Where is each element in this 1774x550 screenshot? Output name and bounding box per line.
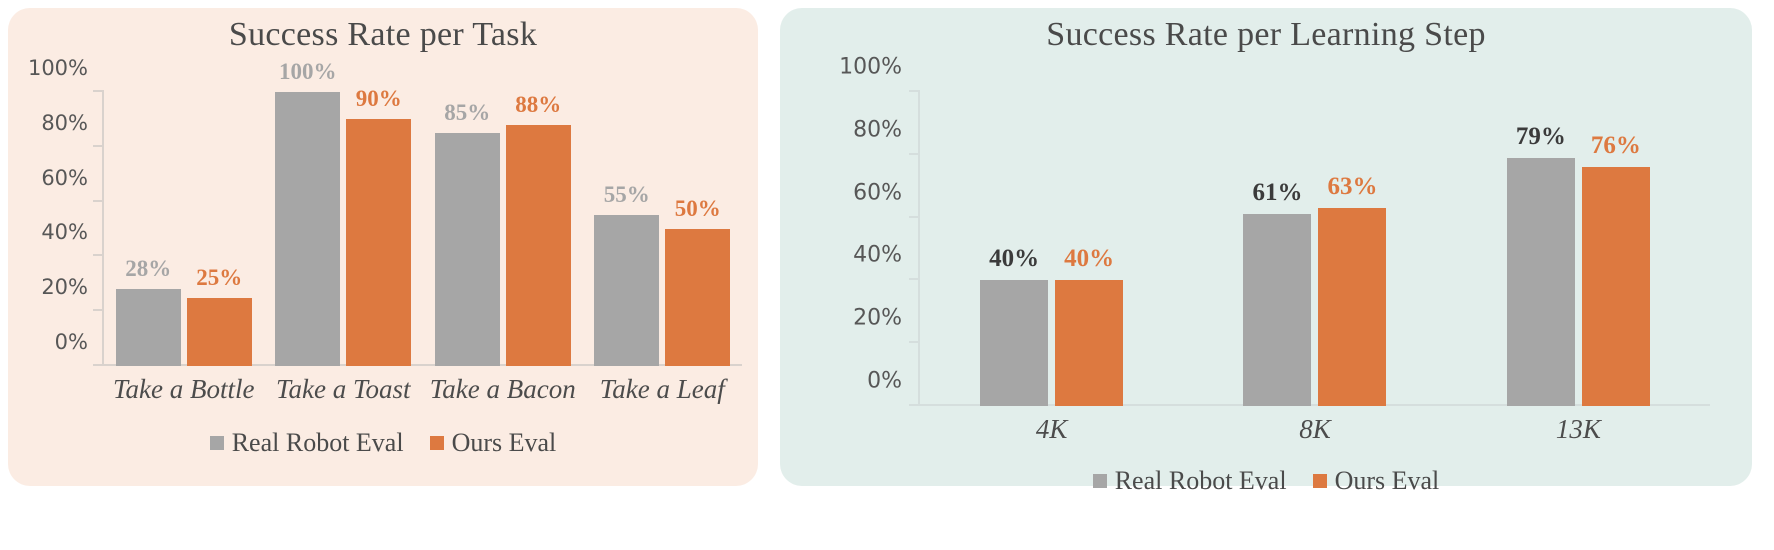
bar-ours-eval[interactable]: 40%: [1055, 280, 1123, 406]
bar-value-label: 88%: [515, 92, 561, 118]
chart-panel-success-rate-per-task: Success Rate per Task 0%20%40%60%80%100%…: [8, 8, 758, 486]
y-axis-tick-label: 40%: [853, 243, 902, 268]
bar-value-label: 40%: [989, 245, 1039, 273]
bar-ours-eval[interactable]: 88%: [506, 125, 571, 366]
x-axis-category-label: Take a Leaf: [583, 374, 743, 405]
x-axis-category-label: Take a Toast: [264, 374, 424, 405]
y-axis-tick: [909, 278, 920, 280]
y-axis-tick: [93, 364, 104, 366]
bar-real-robot-eval[interactable]: 40%: [980, 280, 1048, 406]
legend-swatch-icon: [210, 436, 224, 450]
y-axis-tick: [93, 90, 104, 92]
legend-right: Real Robot Eval Ours Eval: [780, 466, 1752, 496]
x-axis-category-label: Take a Bottle: [104, 374, 264, 405]
bar-group: 28%25%: [104, 92, 264, 366]
bar-group: 55%50%: [583, 92, 743, 366]
legend-item-real-robot-eval[interactable]: Real Robot Eval: [210, 428, 404, 458]
bar-real-robot-eval[interactable]: 85%: [435, 133, 500, 366]
y-axis-tick-label: 20%: [853, 306, 902, 331]
bar-real-robot-eval[interactable]: 61%: [1243, 214, 1311, 406]
x-axis-category-label: 8K: [1183, 414, 1446, 445]
legend-label: Ours Eval: [452, 428, 557, 458]
bar-groups-right: 40%40%61%63%79%76%: [920, 92, 1710, 406]
y-axis-tick: [909, 90, 920, 92]
bar-group: 61%63%: [1183, 92, 1446, 406]
bar-real-robot-eval[interactable]: 79%: [1507, 158, 1575, 406]
bar-ours-eval[interactable]: 50%: [665, 229, 730, 366]
bar-real-robot-eval[interactable]: 55%: [594, 215, 659, 366]
legend-left: Real Robot Eval Ours Eval: [8, 428, 758, 458]
legend-swatch-icon: [1093, 474, 1107, 488]
bar-real-robot-eval[interactable]: 100%: [275, 92, 340, 366]
legend-item-ours-eval[interactable]: Ours Eval: [430, 428, 557, 458]
bar-ours-eval[interactable]: 76%: [1582, 167, 1650, 406]
bar-value-label: 100%: [279, 59, 337, 85]
y-axis-tick-label: 80%: [41, 111, 88, 135]
y-axis-tick-label: 100%: [839, 55, 902, 80]
x-axis-labels-right: 4K8K13K: [920, 414, 1710, 445]
bar-value-label: 79%: [1516, 123, 1566, 151]
chart-title-left: Success Rate per Task: [8, 16, 758, 54]
chart-panel-success-rate-per-learning-step: Success Rate per Learning Step 0%20%40%6…: [780, 8, 1752, 486]
bar-group: 100%90%: [264, 92, 424, 366]
y-axis-tick: [909, 341, 920, 343]
bar-value-label: 40%: [1064, 245, 1114, 273]
y-axis-tick-label: 0%: [867, 369, 902, 394]
bar-value-label: 28%: [125, 256, 171, 282]
bar-ours-eval[interactable]: 63%: [1318, 208, 1386, 406]
y-axis-tick: [93, 309, 104, 311]
y-axis-tick: [909, 404, 920, 406]
bar-value-label: 55%: [604, 182, 650, 208]
y-axis-tick: [93, 200, 104, 202]
legend-swatch-icon: [430, 436, 444, 450]
y-axis-tick: [909, 216, 920, 218]
figure-root: Success Rate per Task 0%20%40%60%80%100%…: [0, 0, 1774, 550]
chart-title-right: Success Rate per Learning Step: [780, 16, 1752, 54]
y-axis-tick-label: 0%: [55, 330, 88, 354]
y-axis-tick: [93, 145, 104, 147]
bar-group: 85%88%: [423, 92, 583, 366]
legend-item-real-robot-eval[interactable]: Real Robot Eval: [1093, 466, 1287, 496]
bar-value-label: 25%: [196, 265, 242, 291]
bar-group: 79%76%: [1447, 92, 1710, 406]
y-axis-tick-label: 40%: [41, 220, 88, 244]
x-axis-labels-left: Take a BottleTake a ToastTake a BaconTak…: [104, 374, 742, 405]
plot-area-right: 0%20%40%60%80%100% 40%40%61%63%79%76%: [920, 92, 1710, 406]
bar-value-label: 61%: [1252, 179, 1302, 207]
legend-swatch-icon: [1313, 474, 1327, 488]
bar-value-label: 63%: [1327, 173, 1377, 201]
bar-group: 40%40%: [920, 92, 1183, 406]
x-axis-category-label: Take a Bacon: [423, 374, 583, 405]
x-axis-category-label: 13K: [1447, 414, 1710, 445]
legend-item-ours-eval[interactable]: Ours Eval: [1313, 466, 1440, 496]
legend-label: Real Robot Eval: [1115, 466, 1287, 496]
legend-label: Ours Eval: [1335, 466, 1440, 496]
bar-value-label: 90%: [356, 86, 402, 112]
y-axis-tick-label: 20%: [41, 275, 88, 299]
x-axis-category-label: 4K: [920, 414, 1183, 445]
y-axis-tick: [93, 254, 104, 256]
bar-value-label: 76%: [1591, 132, 1641, 160]
plot-area-left: 0%20%40%60%80%100% 28%25%100%90%85%88%55…: [104, 92, 742, 366]
y-axis-tick-label: 100%: [28, 56, 88, 80]
y-axis-tick: [909, 153, 920, 155]
bar-real-robot-eval[interactable]: 28%: [116, 289, 181, 366]
bar-ours-eval[interactable]: 25%: [187, 298, 252, 367]
legend-label: Real Robot Eval: [232, 428, 404, 458]
bar-groups-left: 28%25%100%90%85%88%55%50%: [104, 92, 742, 366]
bar-value-label: 85%: [444, 100, 490, 126]
y-axis-tick-label: 60%: [41, 166, 88, 190]
bar-value-label: 50%: [675, 196, 721, 222]
y-axis-tick-label: 60%: [853, 180, 902, 205]
y-axis-tick-label: 80%: [853, 117, 902, 142]
bar-ours-eval[interactable]: 90%: [346, 119, 411, 366]
